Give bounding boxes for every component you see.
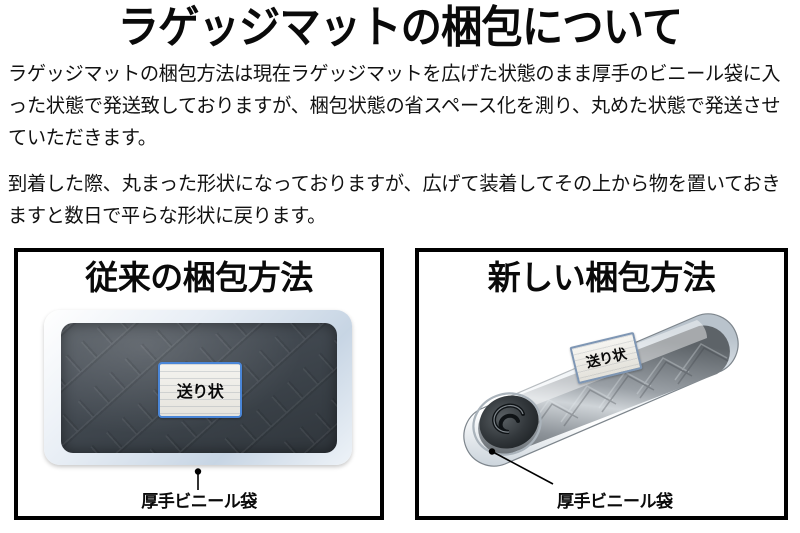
leader-line-new <box>419 448 792 490</box>
intro-paragraph-1: ラゲッジマットの梱包方法は現在ラゲッジマットを広げた状態のまま厚手のビニール袋に… <box>8 58 780 154</box>
panel-new-method-heading: 新しい梱包方法 <box>419 252 784 300</box>
shipping-label-flat: 送り状 <box>158 362 242 418</box>
shipping-label-roll-text: 送り状 <box>584 344 628 373</box>
vinyl-bag-flat: 送り状 <box>44 310 352 465</box>
new-method-callout: 厚手ビニール袋 <box>419 472 784 516</box>
intro-paragraph-2: 到着した際、丸まった形状になっておりますが、広げて装着してその上から物を置いてお… <box>8 168 780 232</box>
panel-new-method: 新しい梱包方法 <box>415 248 788 520</box>
page-title: ラゲッジマットの梱包について <box>24 0 776 54</box>
intro-text-block: ラゲッジマットの梱包方法は現在ラゲッジマットを広げた状態のまま厚手のビニール袋に… <box>0 58 800 232</box>
old-method-callout-text: 厚手ビニール袋 <box>18 487 380 512</box>
shipping-label-flat-text: 送り状 <box>177 378 224 402</box>
old-method-illustration: 送り状 <box>18 300 380 476</box>
new-method-callout-text: 厚手ビニール袋 <box>557 487 673 512</box>
panel-old-method-heading: 従来の梱包方法 <box>18 252 380 300</box>
panel-old-method: 従来の梱包方法 送り状 厚手ビニール袋 <box>14 248 384 520</box>
old-method-callout: 厚手ビニール袋 <box>18 472 380 516</box>
comparison-panels: 従来の梱包方法 送り状 厚手ビニール袋 新しい梱包方法 <box>0 248 800 526</box>
